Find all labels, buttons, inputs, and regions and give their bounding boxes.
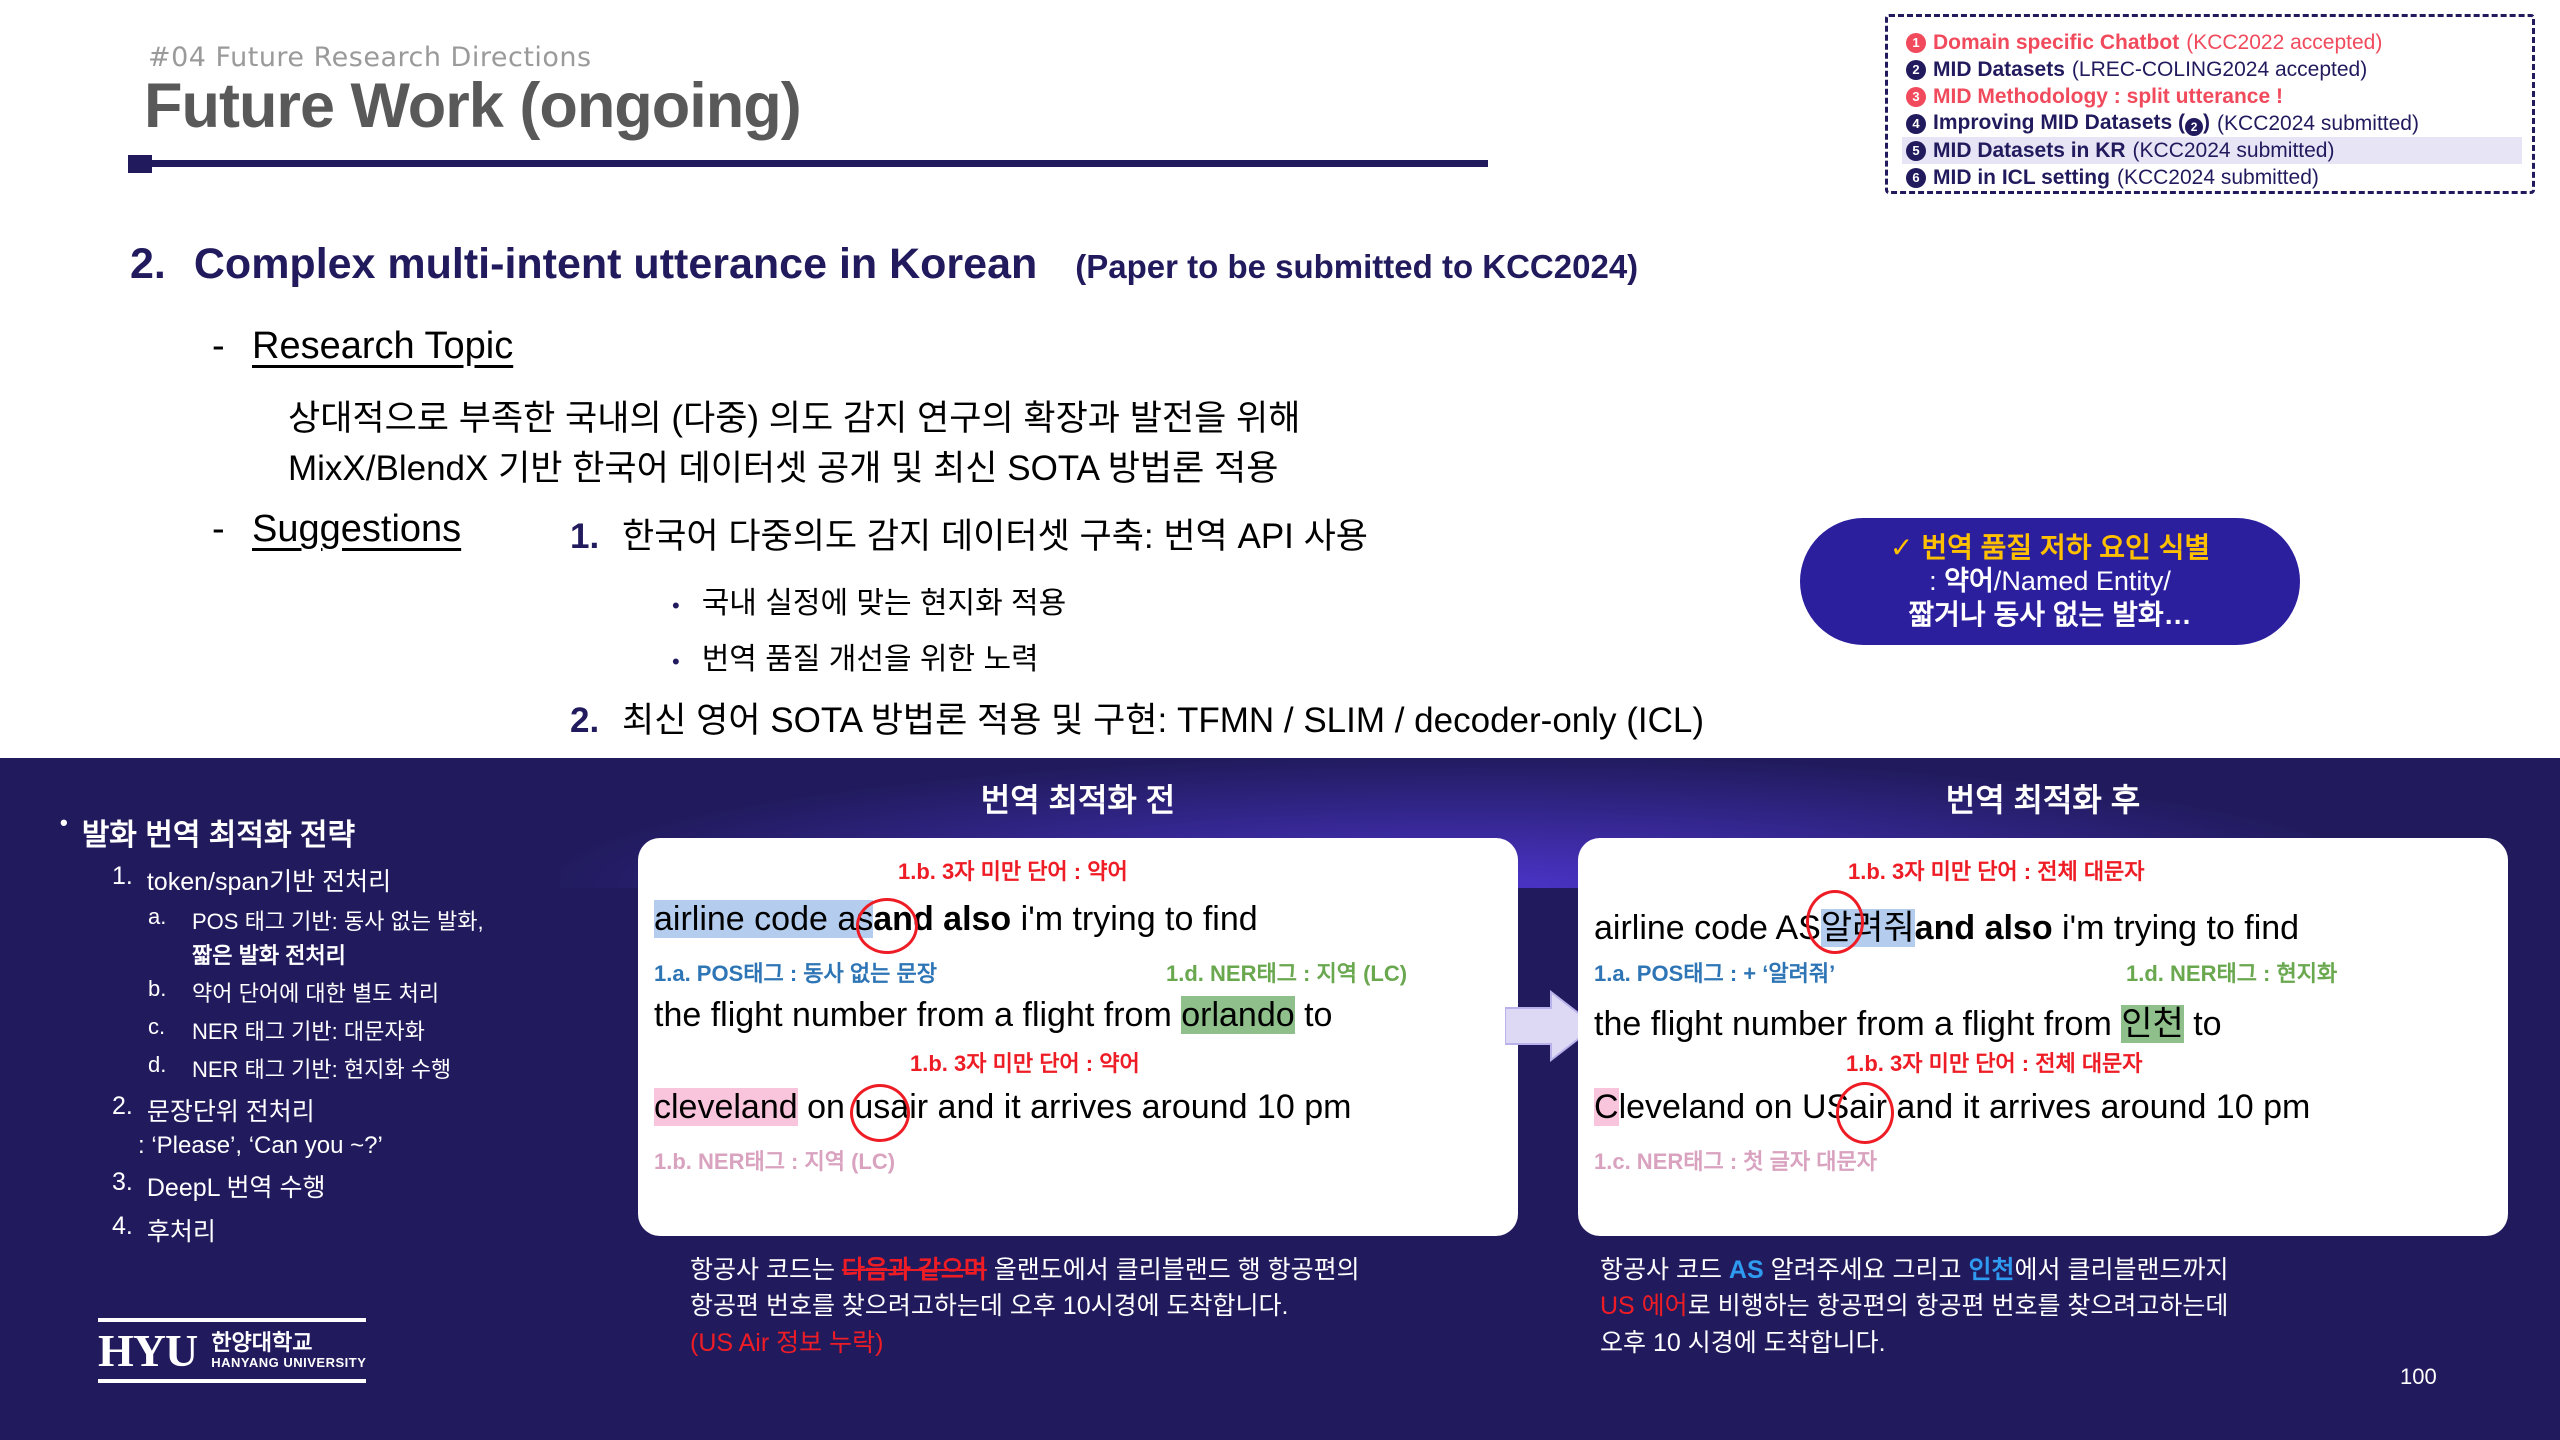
suggestion-item-1: 1. 한국어 다중의도 감지 데이터셋 구축: 번역 API 사용 xyxy=(570,508,1368,559)
before-s2-part-b: to xyxy=(1295,996,1333,1034)
after-kr-line-3: 오후 10 시경에 도착합니다. xyxy=(1600,1325,2490,1361)
strategy-list: • 발화 번역 최적화 전략 1. token/span기반 전처리 a. PO… xyxy=(60,810,620,1248)
after-s2-part-a: the flight number from a flight from xyxy=(1594,1005,2121,1043)
logo-hyu-text: HYU xyxy=(98,1324,197,1377)
suggestions-label: Suggestions xyxy=(252,508,461,551)
before-s2-part-a: the flight number from a flight from xyxy=(654,996,1181,1034)
after-s2-highlight: 인천 xyxy=(2121,1005,2184,1043)
legend-badge-4-icon: 4 xyxy=(1906,114,1926,134)
check-icon: ✓ xyxy=(1890,532,1913,563)
research-topic-line-1: 상대적으로 부족한 국내의 (다중) 의도 감지 연구의 확장과 발전을 위해 xyxy=(288,390,1300,441)
before-kr-1b: 올랜도에서 클리블랜드 행 항공편의 xyxy=(987,1256,1360,1284)
after-s3-rest: leveland on xyxy=(1619,1088,1802,1126)
legend-badge-1-icon: 1 xyxy=(1906,33,1926,53)
translation-quality-callout: ✓번역 품질 저하 요인 식별 : 약어/Named Entity/ 짧거나 동… xyxy=(1800,518,2300,645)
strategy-item-4-marker: 4. xyxy=(112,1212,133,1248)
legend-item-4[interactable]: 4 Improving MID Datasets (2) (KCC2024 su… xyxy=(1902,110,2522,137)
strategy-item-2-marker: 2. xyxy=(112,1092,133,1128)
after-circle-as-icon xyxy=(1806,890,1864,954)
legend-sub-4: (KCC2024 submitted) xyxy=(2217,112,2419,136)
after-sentence-3: Cleveland on USair and it arrives around… xyxy=(1594,1088,2310,1127)
strategy-item-1c-marker: c. xyxy=(148,1014,174,1046)
legend-inline-badge-2-icon: 2 xyxy=(2185,118,2203,136)
before-kr-1a: 항공사 코드는 xyxy=(690,1256,842,1284)
section-heading: Complex multi-intent utterance in Korean xyxy=(194,240,1037,289)
after-kr-1a: 항공사 코드 xyxy=(1600,1256,1729,1284)
suggestion-1-sub-b-text: 번역 품질 개선을 위한 노력 xyxy=(702,634,1039,678)
legend-main-3: MID Methodology : split utterance ! xyxy=(1933,85,2283,109)
strategy-item-1a-marker: a. xyxy=(148,904,174,936)
legend-main-1: Domain specific Chatbot xyxy=(1933,31,2179,55)
strategy-item-1b-marker: b. xyxy=(148,976,174,1008)
after-tag-ner-loc: 1.d. NER태그 : 현지화 xyxy=(2126,956,2337,988)
hanyang-university-logo: HYU 한양대학교 HANYANG UNIVERSITY xyxy=(98,1318,366,1383)
suggestion-2-text: 최신 영어 SOTA 방법론 적용 및 구현: TFMN / SLIM / de… xyxy=(622,692,1704,743)
strategy-item-1a: a. POS 태그 기반: 동사 없는 발화, xyxy=(148,904,620,936)
section-heading-row: 2. Complex multi-intent utterance in Kor… xyxy=(130,240,1638,289)
strategy-heading-text: 발화 번역 최적화 전략 xyxy=(82,810,355,854)
before-s2-highlight: orlando xyxy=(1181,996,1294,1034)
after-kr-2b: 로 비행하는 항공편의 항공편 번호를 찾으려고하는데 xyxy=(1688,1292,2229,1320)
before-kr-line-1: 항공사 코드는 다음과 같으며 올랜도에서 클리블랜드 행 항공편의 xyxy=(690,1252,1520,1288)
strategy-item-2-note: : ‘Please’, ‘Can you ~?’ xyxy=(138,1132,620,1160)
after-s1-bold: and also xyxy=(1915,909,2053,947)
suggestion-item-2: 2. 최신 영어 SOTA 방법론 적용 및 구현: TFMN / SLIM /… xyxy=(570,692,1704,743)
title-divider xyxy=(128,160,1488,167)
bullet-dot-icon: • xyxy=(672,649,680,675)
before-sentence-1: airline code asand also i'm trying to fi… xyxy=(654,900,1258,939)
legend-main-2: MID Datasets xyxy=(1933,58,2065,82)
legend-item-5[interactable]: 5 MID Datasets in KR (KCC2024 submitted) xyxy=(1902,137,2522,164)
legend-badge-5-icon: 5 xyxy=(1906,141,1926,161)
strategy-heading: • 발화 번역 최적화 전략 xyxy=(60,810,620,854)
strategy-item-3: 3. DeepL 번역 수행 xyxy=(112,1168,620,1204)
legend-item-1[interactable]: 1 Domain specific Chatbot (KCC2022 accep… xyxy=(1902,29,2522,56)
callout-line-2-rest: /Named Entity/ xyxy=(1994,566,2171,596)
callout-line-1: ✓번역 품질 저하 요인 식별 xyxy=(1890,531,2210,565)
suggestions-dash: - xyxy=(212,508,225,551)
before-kr-1-strike: 다음과 같으며 xyxy=(842,1256,987,1284)
after-korean-translation: 항공사 코드 AS 알려주세요 그리고 인천에서 클리블랜드까지 US 에어로 … xyxy=(1600,1252,2490,1361)
before-s1-part-a: airline code xyxy=(654,900,837,938)
before-tag-top: 1.b. 3자 미만 단어 : 약어 xyxy=(898,854,1128,886)
suggestion-1-text: 한국어 다중의도 감지 데이터셋 구축: 번역 API 사용 xyxy=(622,508,1368,559)
strategy-item-1c-text: NER 태그 기반: 대문자화 xyxy=(192,1014,425,1046)
after-s3-part-b: air and it arrives around 10 pm xyxy=(1849,1088,2310,1126)
before-tag-ner-loc: 1.d. NER태그 : 지역 (LC) xyxy=(1166,956,1407,988)
after-kr-1-blue2: 인천 xyxy=(1968,1256,2014,1284)
after-s3-highlight: C xyxy=(1594,1088,1619,1126)
legend-badge-6-icon: 6 xyxy=(1906,168,1926,188)
logo-text-block: 한양대학교 HANYANG UNIVERSITY xyxy=(211,1331,366,1369)
suggestion-2-number: 2. xyxy=(570,701,604,741)
strategy-item-1-marker: 1. xyxy=(112,862,133,898)
strategy-item-1d-text: NER 태그 기반: 현지화 수행 xyxy=(192,1052,451,1084)
section-number: 2. xyxy=(130,240,166,289)
after-kr-line-2: US 에어로 비행하는 항공편의 항공편 번호를 찾으려고하는데 xyxy=(1600,1288,2490,1324)
research-topic-dash: - xyxy=(212,325,225,368)
after-tag-top: 1.b. 3자 미만 단어 : 전체 대문자 xyxy=(1848,854,2145,886)
column-title-before: 번역 최적화 전 xyxy=(638,775,1518,821)
after-kr-1-blue: AS xyxy=(1729,1256,1764,1284)
strategy-item-2: 2. 문장단위 전처리 xyxy=(112,1092,620,1128)
suggestion-1-sub-a: • 국내 실정에 맞는 현지화 적용 xyxy=(672,578,1066,622)
before-circle-us-icon xyxy=(850,1084,910,1142)
legend-sub-5: (KCC2024 submitted) xyxy=(2133,139,2335,163)
strategy-item-3-marker: 3. xyxy=(112,1168,133,1204)
legend-item-2[interactable]: 2 MID Datasets (LREC-COLING2024 accepted… xyxy=(1902,56,2522,83)
after-kr-1c: 에서 클리블랜드까지 xyxy=(2015,1256,2229,1284)
before-sentence-3: cleveland on usair and it arrives around… xyxy=(654,1088,1351,1127)
column-title-after: 번역 최적화 후 xyxy=(1578,775,2508,821)
card-before-optimization: 1.b. 3자 미만 단어 : 약어 airline code asand al… xyxy=(638,838,1518,1236)
callout-line-2: : 약어/Named Entity/ xyxy=(1929,565,2171,598)
legend-item-3[interactable]: 3 MID Methodology : split utterance ! xyxy=(1902,83,2522,110)
strategy-item-2-text: 문장단위 전처리 xyxy=(147,1092,315,1128)
legend-sub-6: (KCC2024 submitted) xyxy=(2117,166,2319,190)
bullet-dot-icon: • xyxy=(672,593,680,619)
before-tag-pos: 1.a. POS태그 : 동사 없는 문장 xyxy=(654,956,937,988)
section-subnote: (Paper to be submitted to KCC2024) xyxy=(1075,248,1638,286)
strategy-item-1b: b. 약어 단어에 대한 별도 처리 xyxy=(148,976,620,1008)
strategy-item-1: 1. token/span기반 전처리 xyxy=(112,862,620,898)
slide-kicker: #04 Future Research Directions xyxy=(148,42,592,73)
legend-badge-2-icon: 2 xyxy=(1906,60,1926,80)
research-topic-label: Research Topic xyxy=(252,325,513,368)
callout-line-3: 짧거나 동사 없는 발화… xyxy=(1908,598,2191,632)
legend-main-6: MID in ICL setting xyxy=(1933,166,2110,190)
before-tag-mid: 1.b. 3자 미만 단어 : 약어 xyxy=(910,1046,1140,1078)
after-tag-pos: 1.a. POS태그 : + ‘알려줘’ xyxy=(1594,956,1835,988)
after-sentence-1: airline code AS알려줘and also i'm trying to… xyxy=(1594,900,2299,949)
research-topic-line-2: MixX/BlendX 기반 한국어 데이터셋 공개 및 최신 SOTA 방법론… xyxy=(288,440,1278,491)
suggestion-1-number: 1. xyxy=(570,517,604,557)
callout-line-2-bold: 약어 xyxy=(1944,566,1994,596)
legend-sub-2: (LREC-COLING2024 accepted) xyxy=(2072,58,2367,82)
after-s2-part-b: to xyxy=(2184,1005,2222,1043)
strategy-item-1a-cont: 짧은 발화 전처리 xyxy=(192,938,620,970)
strategy-item-1b-text: 약어 단어에 대한 별도 처리 xyxy=(192,976,439,1008)
strategy-item-1d-marker: d. xyxy=(148,1052,174,1084)
strategy-item-4-text: 후처리 xyxy=(147,1212,216,1248)
suggestion-1-sub-a-text: 국내 실정에 맞는 현지화 적용 xyxy=(702,578,1067,622)
after-tag-mid: 1.b. 3자 미만 단어 : 전체 대문자 xyxy=(1846,1046,2143,1078)
before-s3-part-b: air and it arrives around 10 pm xyxy=(890,1088,1351,1126)
page-title: Future Work (ongoing) xyxy=(144,70,801,142)
page-number: 100 xyxy=(2400,1364,2437,1390)
strategy-item-1a-text: POS 태그 기반: 동사 없는 발화, xyxy=(192,904,484,936)
before-tag-bottom: 1.b. NER태그 : 지역 (LC) xyxy=(654,1144,895,1176)
legend-item-6[interactable]: 6 MID in ICL setting (KCC2024 submitted) xyxy=(1902,164,2522,191)
legend-main-4: Improving MID Datasets (2) xyxy=(1933,111,2210,136)
card-after-optimization: 1.b. 3자 미만 단어 : 전체 대문자 airline code AS알려… xyxy=(1578,838,2508,1236)
legend-badge-3-icon: 3 xyxy=(1906,87,1926,107)
after-tag-bottom: 1.c. NER태그 : 첫 글자 대문자 xyxy=(1594,1144,1877,1176)
strategy-item-4: 4. 후처리 xyxy=(112,1212,620,1248)
after-kr-2-red: US 에어 xyxy=(1600,1292,1688,1320)
strategy-item-1d: d. NER 태그 기반: 현지화 수행 xyxy=(148,1052,620,1084)
suggestion-1-sub-b: • 번역 품질 개선을 위한 노력 xyxy=(672,634,1039,678)
before-kr-line-2: 항공편 번호를 찾으려고하는데 오후 10시경에 도착합니다. xyxy=(690,1288,1520,1324)
before-s1-highlight: airline code as xyxy=(654,900,873,938)
before-circle-as-icon xyxy=(856,898,918,954)
before-s3-highlight: cleveland xyxy=(654,1088,798,1126)
logo-english-name: HANYANG UNIVERSITY xyxy=(211,1355,366,1370)
roadmap-legend-box: 1 Domain specific Chatbot (KCC2022 accep… xyxy=(1885,14,2535,194)
legend-sub-1: (KCC2022 accepted) xyxy=(2186,31,2382,55)
after-kr-1b: 알려주세요 그리고 xyxy=(1764,1256,1969,1284)
strategy-item-1c: c. NER 태그 기반: 대문자화 xyxy=(148,1014,620,1046)
after-s1-part-c: i'm trying to find xyxy=(2053,909,2299,947)
before-s3-part-a: on xyxy=(798,1088,855,1126)
bullet-dot-icon: • xyxy=(60,810,68,854)
title-divider-cap xyxy=(128,155,152,173)
before-sentence-2: the flight number from a flight from orl… xyxy=(654,996,1332,1035)
slide-root: #04 Future Research Directions Future Wo… xyxy=(0,0,2560,1440)
legend-main-5: MID Datasets in KR xyxy=(1933,139,2126,163)
before-korean-translation: 항공사 코드는 다음과 같으며 올랜도에서 클리블랜드 행 항공편의 항공편 번… xyxy=(690,1252,1520,1361)
callout-line-1-text: 번역 품질 저하 요인 식별 xyxy=(1921,532,2210,563)
after-kr-line-1: 항공사 코드 AS 알려주세요 그리고 인천에서 클리블랜드까지 xyxy=(1600,1252,2490,1288)
strategy-item-1-text: token/span기반 전처리 xyxy=(147,862,391,898)
after-s1-part-a: airline code xyxy=(1594,909,1775,947)
logo-korean-name: 한양대학교 xyxy=(211,1331,366,1354)
before-s1-part-c: i'm trying to find xyxy=(1011,900,1257,938)
strategy-item-3-text: DeepL 번역 수행 xyxy=(147,1168,326,1204)
after-sentence-2: the flight number from a flight from 인천 … xyxy=(1594,996,2222,1045)
after-circle-us-icon xyxy=(1836,1082,1894,1144)
callout-line-2-prefix: : xyxy=(1929,566,1944,596)
before-kr-line-3: (US Air 정보 누락) xyxy=(690,1325,1520,1361)
